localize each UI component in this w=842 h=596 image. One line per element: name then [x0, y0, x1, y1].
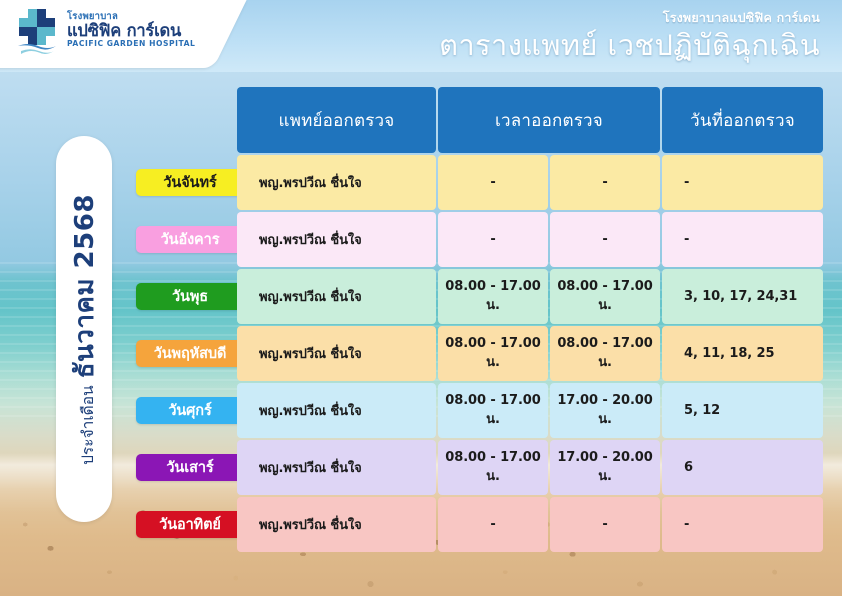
hospital-logo: โรงพยาบาล แปซิฟิค การ์เดน PACIFIC GARDEN… — [14, 6, 195, 54]
cell-dates: 4, 11, 18, 25 — [662, 326, 823, 381]
month-badge-text: ประจำเดือน ธันวาคม 2568 — [64, 194, 105, 465]
page-header: โรงพยาบาล แปซิฟิค การ์เดน PACIFIC GARDEN… — [0, 0, 842, 72]
cell-dates: - — [662, 155, 823, 210]
cell-doctor: พญ.พรปวีณ ชื่นใจ — [237, 383, 436, 438]
schedule-table-wrapper: แพทย์ออกตรวจ เวลาออกตรวจ วันที่ออกตรวจ พ… — [235, 85, 815, 554]
cell-time-2: - — [550, 497, 660, 552]
cell-time-1: 08.00 - 17.00 น. — [438, 383, 548, 438]
cell-doctor: พญ.พรปวีณ ชื่นใจ — [237, 269, 436, 324]
cell-doctor: พญ.พรปวีณ ชื่นใจ — [237, 440, 436, 495]
cell-dates: 6 — [662, 440, 823, 495]
day-chip-2: วันอังคาร — [136, 226, 244, 253]
cell-time-2: 08.00 - 17.00 น. — [550, 269, 660, 324]
cell-time-2: 17.00 - 20.00 น. — [550, 440, 660, 495]
table-row: พญ.พรปวีณ ชื่นใจ08.00 - 17.00 น.08.00 - … — [237, 326, 823, 381]
table-row: พญ.พรปวีณ ชื่นใจ08.00 - 17.00 น.17.00 - … — [237, 440, 823, 495]
cell-time-1: - — [438, 212, 548, 267]
cell-time-2: - — [550, 212, 660, 267]
logo-english: PACIFIC GARDEN HOSPITAL — [67, 40, 195, 48]
table-row: พญ.พรปวีณ ชื่นใจ--- — [237, 212, 823, 267]
cell-dates: 3, 10, 17, 24,31 — [662, 269, 823, 324]
cell-dates: 5, 12 — [662, 383, 823, 438]
day-label-column: วันจันทร์วันอังคารวันพุธวันพฤหัสบดีวันศุ… — [136, 85, 244, 540]
column-header-time: เวลาออกตรวจ — [438, 87, 660, 153]
cell-doctor: พญ.พรปวีณ ชื่นใจ — [237, 497, 436, 552]
day-chip-5: วันศุกร์ — [136, 397, 244, 424]
day-chip-4: วันพฤหัสบดี — [136, 340, 244, 367]
cell-time-1: - — [438, 155, 548, 210]
cell-time-2: 08.00 - 17.00 น. — [550, 326, 660, 381]
cell-dates: - — [662, 212, 823, 267]
month-value-label: ธันวาคม 2568 — [64, 194, 105, 378]
logo-thai-big: แปซิฟิค การ์เดน — [67, 23, 195, 40]
day-chip-6: วันเสาร์ — [136, 454, 244, 481]
column-header-dates: วันที่ออกตรวจ — [662, 87, 823, 153]
cell-time-1: - — [438, 497, 548, 552]
title-block: โรงพยาบาลแปซิฟิค การ์เดน ตารางแพทย์ เวชป… — [439, 8, 820, 60]
day-chip-7: วันอาทิตย์ — [136, 511, 244, 538]
cell-time-2: 17.00 - 20.00 น. — [550, 383, 660, 438]
cell-doctor: พญ.พรปวีณ ชื่นใจ — [237, 212, 436, 267]
month-prefix-label: ประจำเดือน — [75, 385, 100, 465]
table-head: แพทย์ออกตรวจ เวลาออกตรวจ วันที่ออกตรวจ — [237, 87, 823, 153]
cell-time-1: 08.00 - 17.00 น. — [438, 326, 548, 381]
cell-time-2: - — [550, 155, 660, 210]
table-row: พญ.พรปวีณ ชื่นใจ08.00 - 17.00 น.17.00 - … — [237, 383, 823, 438]
cell-time-1: 08.00 - 17.00 น. — [438, 269, 548, 324]
table-header-row: แพทย์ออกตรวจ เวลาออกตรวจ วันที่ออกตรวจ — [237, 87, 823, 153]
day-chip-3: วันพุธ — [136, 283, 244, 310]
cell-doctor: พญ.พรปวีณ ชื่นใจ — [237, 326, 436, 381]
cell-dates: - — [662, 497, 823, 552]
table-row: พญ.พรปวีณ ชื่นใจ08.00 - 17.00 น.08.00 - … — [237, 269, 823, 324]
table-row: พญ.พรปวีณ ชื่นใจ--- — [237, 497, 823, 552]
column-header-doctor: แพทย์ออกตรวจ — [237, 87, 436, 153]
page-title: ตารางแพทย์ เวชปฏิบัติฉุกเฉิน — [439, 30, 820, 60]
hospital-cross-logo-icon — [14, 6, 60, 54]
cell-time-1: 08.00 - 17.00 น. — [438, 440, 548, 495]
table-row: พญ.พรปวีณ ชื่นใจ--- — [237, 155, 823, 210]
cell-doctor: พญ.พรปวีณ ชื่นใจ — [237, 155, 436, 210]
schedule-table: แพทย์ออกตรวจ เวลาออกตรวจ วันที่ออกตรวจ พ… — [235, 85, 825, 554]
day-chip-1: วันจันทร์ — [136, 169, 244, 196]
month-badge: ประจำเดือน ธันวาคม 2568 — [56, 136, 112, 522]
header-subtitle: โรงพยาบาลแปซิฟิค การ์เดน — [439, 8, 820, 28]
table-body: พญ.พรปวีณ ชื่นใจ---พญ.พรปวีณ ชื่นใจ---พญ… — [237, 155, 823, 552]
